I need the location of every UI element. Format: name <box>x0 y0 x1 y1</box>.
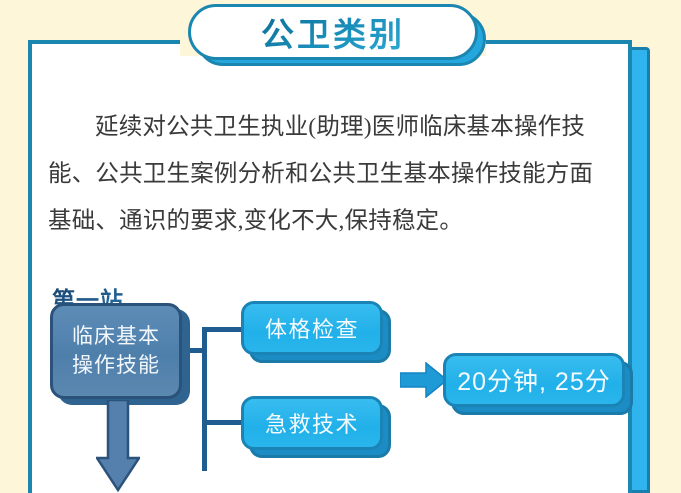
page-title: 公卫类别 <box>261 8 405 56</box>
arrow-right-icon <box>400 362 448 398</box>
leaf-node-label: 体格检查 <box>265 312 359 344</box>
bracket-connector-bottom-branch <box>202 420 243 425</box>
infographic-slide: 公卫类别 延续对公共卫生执业(助理)医师临床基本操作技能、公共卫生案例分析和公共… <box>0 0 681 493</box>
leaf-node-physical-exam: 体格检查 <box>241 301 383 355</box>
bracket-connector-top-branch <box>202 327 243 332</box>
primary-node-line-2: 操作技能 <box>72 351 160 380</box>
primary-node-line-1: 临床基本 <box>72 322 160 351</box>
primary-node-clinical-skills: 临床基本 操作技能 <box>50 303 182 399</box>
page-title-pill: 公卫类别 <box>188 4 478 60</box>
result-node-label: 20分钟, 25分 <box>457 362 611 398</box>
body-paragraph: 延续对公共卫生执业(助理)医师临床基本操作技能、公共卫生案例分析和公共卫生基本操… <box>48 104 616 245</box>
arrow-down-icon <box>96 400 140 493</box>
leaf-node-label: 急救技术 <box>265 407 359 439</box>
bracket-connector-spine <box>202 327 207 471</box>
leaf-node-emergency-technique: 急救技术 <box>241 396 383 450</box>
result-node-duration-score: 20分钟, 25分 <box>443 353 625 407</box>
